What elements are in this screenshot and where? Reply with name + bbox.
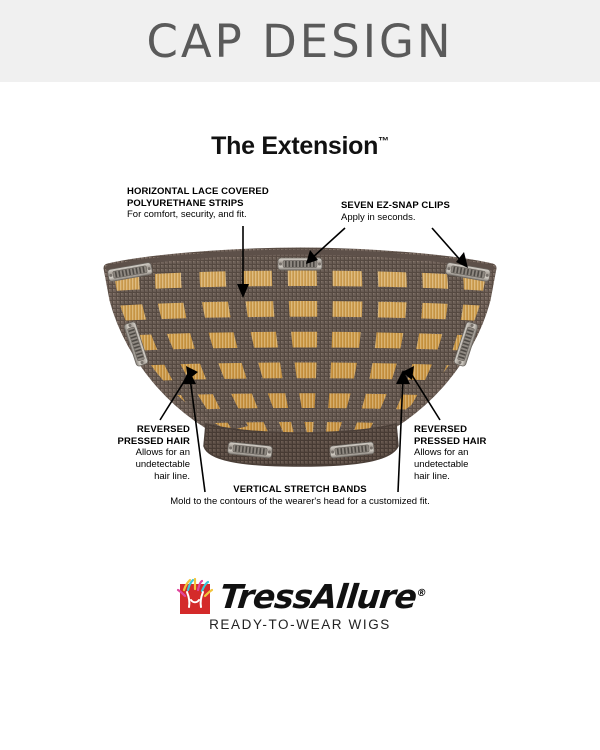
callout-left-sub-3: hair line. <box>154 471 190 482</box>
brand-wordmark: TressAllure® <box>218 577 427 616</box>
callout-stretch-bands: VERTICAL STRETCH BANDS Mold to the conto… <box>150 484 450 508</box>
brand-logo: TressAllure® READY-TO-WEAR WIGS <box>0 576 600 632</box>
callout-left-title-1: REVERSED <box>137 424 190 435</box>
callout-horizontal-strips: HORIZONTAL LACE COVEREDPOLYURETHANE STRI… <box>127 186 307 221</box>
callout-right-title-2: PRESSED HAIR <box>414 436 486 447</box>
cap-diagram <box>0 0 600 750</box>
callout-stretch-title: VERTICAL STRETCH BANDS <box>150 484 450 496</box>
callout-right-sub-1: Allows for an <box>414 447 468 458</box>
brand-name: TressAllure <box>218 577 418 616</box>
callout-right-sub-2: undetectable <box>414 459 468 470</box>
callout-right-sub-3: hair line. <box>414 471 450 482</box>
tressallure-mark-icon <box>174 576 216 616</box>
callout-right-title-1: REVERSED <box>414 424 467 435</box>
callout-snap-clips: SEVEN EZ-SNAP CLIPS Apply in seconds. <box>341 200 511 224</box>
callout-left-title-2: PRESSED HAIR <box>118 436 190 447</box>
callout-clips-subtitle: Apply in seconds. <box>341 212 511 224</box>
brand-tagline: READY-TO-WEAR WIGS <box>209 617 391 632</box>
callout-right-reversed-hair: REVERSEDPRESSED HAIR Allows for anundete… <box>414 424 519 484</box>
callout-clips-title: SEVEN EZ-SNAP CLIPS <box>341 200 511 212</box>
callout-left-reversed-hair: REVERSEDPRESSED HAIR Allows for anundete… <box>95 424 190 484</box>
callout-horizontal-title-2: POLYURETHANE STRIPS <box>127 198 244 209</box>
registered-symbol: ® <box>416 588 426 599</box>
callout-stretch-subtitle: Mold to the contours of the wearer's hea… <box>150 496 450 508</box>
callout-left-sub-2: undetectable <box>136 459 190 470</box>
callout-left-sub-1: Allows for an <box>136 447 190 458</box>
callout-horizontal-title-1: HORIZONTAL LACE COVERED <box>127 186 269 197</box>
callout-horizontal-subtitle: For comfort, security, and fit. <box>127 209 307 221</box>
